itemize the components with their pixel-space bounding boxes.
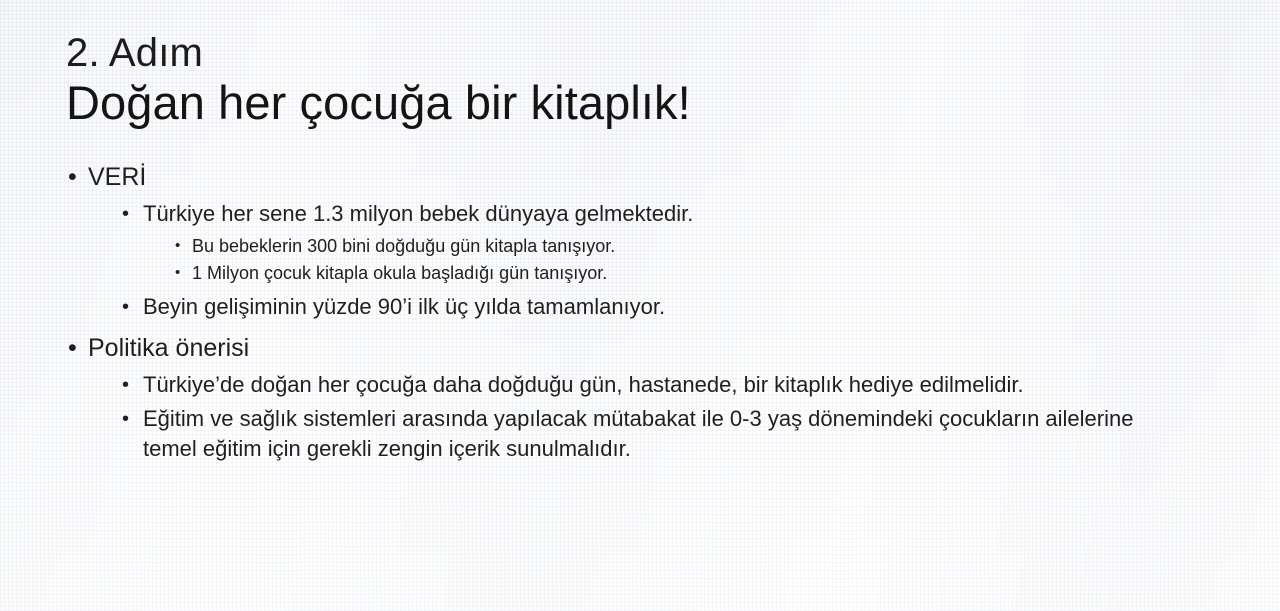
presentation-slide: 2. Adım Doğan her çocuğa bir kitaplık! •… [0, 0, 1280, 611]
bullet-level-3: • Bu bebeklerin 300 bini doğduğu gün kit… [0, 233, 1152, 259]
bullet-text: Türkiye her sene 1.3 milyon bebek dünyay… [143, 199, 1153, 229]
bullet-level-2: • Beyin gelişiminin yüzde 90’i ilk üç yı… [0, 292, 1153, 322]
bullet-text: 1 Milyon çocuk kitapla okula başladığı g… [192, 260, 1152, 286]
bullet-text: Eğitim ve sağlık sistemleri arasında yap… [143, 404, 1153, 464]
slide-title-line-2: Doğan her çocuğa bir kitaplık! [66, 76, 1226, 130]
bullet-dot-icon: • [175, 233, 180, 259]
bullet-dot-icon: • [122, 292, 129, 322]
slide-body-list: • VERİ • Türkiye her sene 1.3 milyon beb… [0, 160, 1280, 466]
bullet-level-2: • Türkiye’de doğan her çocuğa daha doğdu… [0, 370, 1153, 400]
bullet-level-1: • VERİ [0, 160, 1280, 195]
bullet-dot-icon: • [122, 199, 129, 229]
bullet-level-2: • Türkiye her sene 1.3 milyon bebek düny… [0, 199, 1153, 229]
slide-title-line-1: 2. Adım [66, 30, 1226, 76]
bullet-text: VERİ [88, 160, 1280, 195]
slide-title-block: 2. Adım Doğan her çocuğa bir kitaplık! [66, 30, 1226, 130]
bullet-dot-icon: • [175, 260, 180, 286]
bullet-dot-icon: • [122, 404, 129, 434]
bullet-text: Beyin gelişiminin yüzde 90’i ilk üç yıld… [143, 292, 1153, 322]
bullet-level-3: • 1 Milyon çocuk kitapla okula başladığı… [0, 260, 1152, 286]
bullet-level-2: • Eğitim ve sağlık sistemleri arasında y… [0, 404, 1153, 464]
bullet-text: Politika önerisi [88, 331, 1280, 366]
bullet-text: Türkiye’de doğan her çocuğa daha doğduğu… [143, 370, 1153, 400]
bullet-text: Bu bebeklerin 300 bini doğduğu gün kitap… [192, 233, 1152, 259]
bullet-dot-icon: • [68, 160, 77, 195]
bullet-dot-icon: • [68, 331, 77, 366]
bullet-level-1: • Politika önerisi [0, 331, 1280, 366]
bullet-dot-icon: • [122, 370, 129, 400]
